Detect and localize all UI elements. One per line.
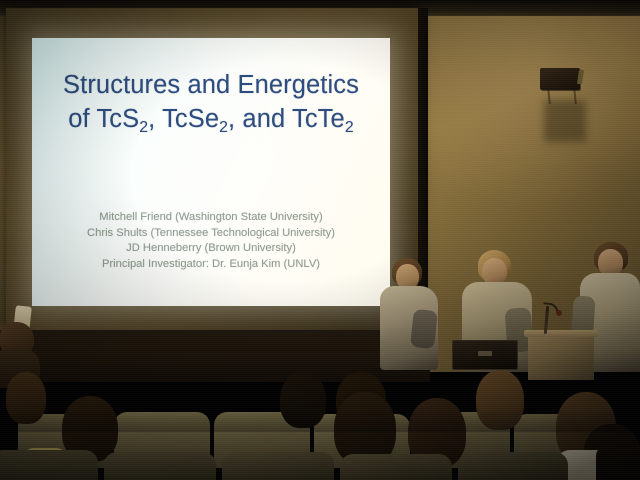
presenter-left <box>378 258 442 370</box>
author-line: JD Henneberry (Brown University) <box>32 241 390 257</box>
author-line: Mitchell Friend (Washington State Univer… <box>32 210 390 226</box>
speaker-shadow <box>544 100 586 142</box>
seat <box>458 452 568 480</box>
presenter-left-arm <box>410 309 438 349</box>
seat <box>340 454 452 480</box>
slide-title-line-1: Structures and Energetics <box>32 68 390 102</box>
seat <box>0 450 98 480</box>
audience-head <box>280 372 326 428</box>
speaker-mount <box>547 88 577 104</box>
subscript-2-c: 2 <box>345 119 354 136</box>
author-list: Mitchell Friend (Washington State Univer… <box>32 210 390 272</box>
slide-title: Structures and Energetics of TcS2, TcSe2… <box>32 68 390 140</box>
subscript-2-b: 2 <box>219 119 228 136</box>
podium <box>528 334 594 380</box>
projection-screen-frame: Structures and Energetics of TcS2, TcSe2… <box>6 8 418 330</box>
slide-title-line-2: of TcS2, TcSe2, and TcTe2 <box>32 102 390 140</box>
presenter-center-head <box>482 258 507 285</box>
microphone-head-icon <box>556 310 562 316</box>
audience-head <box>6 372 46 424</box>
title-formula-tcs2-pre: of TcS <box>68 105 139 133</box>
audience-head <box>476 370 524 430</box>
subscript-2-a: 2 <box>139 119 148 136</box>
wall-speaker-icon <box>540 68 580 90</box>
title-formula-tcse2-mid: , TcSe <box>148 105 219 133</box>
seat <box>104 452 216 480</box>
presentation-slide: Structures and Energetics of TcS2, TcSe2… <box>32 38 390 306</box>
ceiling-light-pool <box>400 0 640 260</box>
author-line: Principal Investigator: Dr. Eunja Kim (U… <box>32 257 390 273</box>
author-line: Chris Shults (Tennessee Technological Un… <box>32 226 390 242</box>
audience-shoulder <box>596 446 640 480</box>
lecture-hall-scene: Structures and Energetics of TcS2, TcSe2… <box>0 0 640 480</box>
presenter-right-head <box>598 249 623 276</box>
seat <box>222 452 334 480</box>
podium-top-surface <box>524 330 598 337</box>
title-formula-tcte2-mid: , and TcTe <box>228 105 345 133</box>
laptop-logo-icon <box>478 351 492 356</box>
